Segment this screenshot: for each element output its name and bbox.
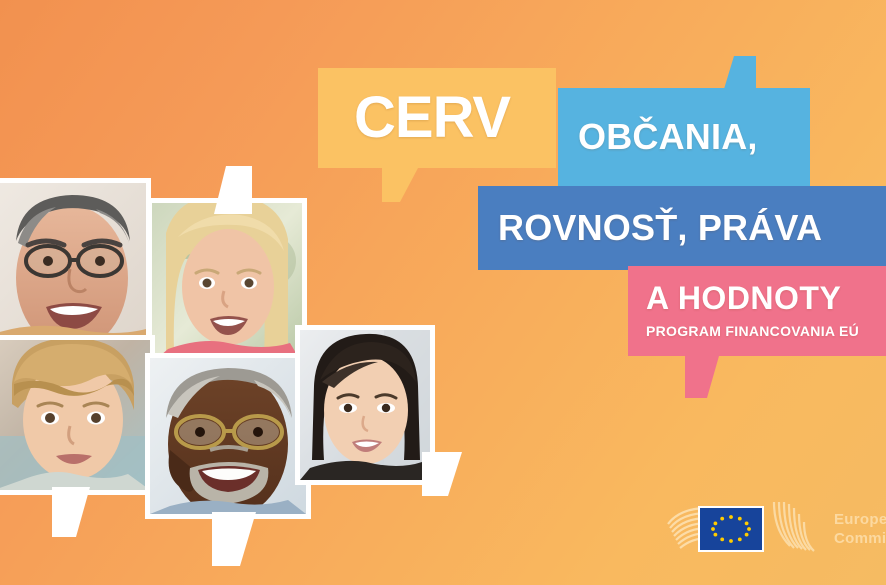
photo-girl-blonde-image: [152, 203, 302, 363]
eu-commission-label: European Commission: [834, 510, 886, 548]
bubble-hodnoty-text: A HODNOTY: [646, 282, 886, 314]
eu-label-line1: European: [834, 510, 886, 529]
bubble-cerv-text: CERV: [354, 89, 510, 147]
photo-man-glasses: [0, 183, 146, 346]
bubble-obcania-text: OBČANIA,: [578, 119, 758, 155]
photo-bubble-tail-woman: [422, 452, 462, 496]
poster-canvas: CERV OBČANIA, ROVNOSŤ, PRÁVA A HODNOTY P…: [0, 0, 886, 585]
photo-elderly-man: [150, 358, 306, 514]
photo-boy-blonde-image: [0, 340, 150, 490]
photo-woman-asian: [300, 330, 430, 480]
photo-girl-blonde: [152, 203, 302, 363]
bubble-hodnoty-subtitle: PROGRAM FINANCOVANIA EÚ: [646, 324, 886, 338]
photo-man-glasses-image: [0, 183, 146, 346]
photo-bubble-tail-upper: [214, 166, 252, 214]
bubble-tail-obcania: [724, 56, 756, 89]
bubble-rovnost: ROVNOSŤ, PRÁVA: [478, 186, 886, 270]
bubble-tail-hodnoty: [685, 356, 719, 398]
photo-elderly-man-image: [150, 358, 306, 514]
eu-label-line2: Commission: [834, 529, 886, 548]
eu-flag-stars-icon: [700, 508, 762, 550]
photo-bubble-tail-right: [212, 512, 256, 566]
eu-commission-logo: European Commission: [700, 508, 886, 550]
eu-logo-fan-right-icon: [770, 502, 822, 554]
photo-boy-blonde: [0, 340, 150, 490]
photo-woman-asian-image: [300, 330, 430, 480]
bubble-obcania: OBČANIA,: [558, 88, 810, 186]
bubble-cerv: CERV: [318, 68, 556, 168]
bubble-tail-cerv: [382, 168, 418, 202]
bubble-hodnoty: A HODNOTY PROGRAM FINANCOVANIA EÚ: [628, 266, 886, 356]
photo-bubble-tail-left: [52, 487, 90, 537]
bubble-rovnost-text: ROVNOSŤ, PRÁVA: [498, 210, 822, 246]
eu-flag: [700, 508, 762, 550]
